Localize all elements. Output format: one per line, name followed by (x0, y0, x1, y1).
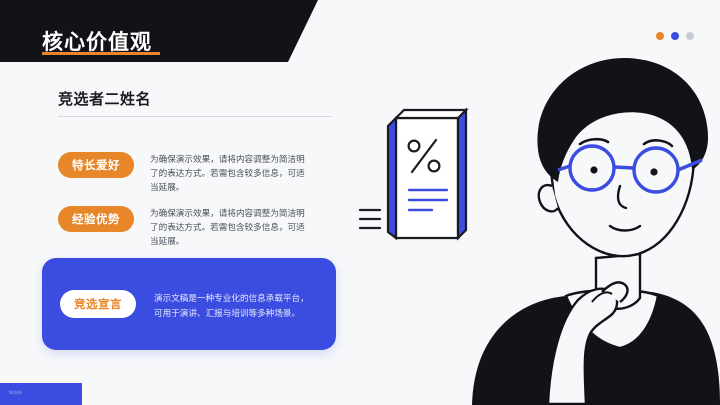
list-item-text: 为确保演示效果，请将内容调整为简洁明了的表达方式。若需包含较多信息，可适当延展。 (150, 152, 306, 195)
heading-divider (58, 116, 332, 117)
list-item-text: 为确保演示效果，请将内容调整为简洁明了的表达方式。若需包含较多信息，可适当延展。 (150, 206, 306, 249)
title-underline (42, 52, 160, 55)
document-graphic (388, 110, 466, 238)
chevrons-right-icon: »»» (8, 388, 22, 398)
dot-blue-icon (671, 32, 679, 40)
illustration (352, 0, 720, 405)
highlight-card-text: 演示文稿是一种专业化的信息承载平台，可用于演讲、汇报与培训等多种场景。 (154, 291, 314, 320)
tag-badge: 经验优势 (58, 206, 134, 232)
list-item: 经验优势 为确保演示效果，请将内容调整为简洁明了的表达方式。若需包含较多信息，可… (58, 206, 306, 249)
dot-gray-icon (686, 32, 694, 40)
bottom-accent-bar: »»» (0, 383, 82, 405)
person-graphic (472, 58, 720, 405)
slide-canvas: 核心价值观 竞选者二姓名 特长爱好 为确保演示效果，请将内容调整为简洁明了的表达… (0, 0, 720, 405)
tag-badge: 特长爱好 (58, 152, 134, 178)
candidate-name-heading: 竞选者二姓名 (58, 88, 151, 109)
highlight-card-badge: 竞选宣言 (60, 290, 136, 318)
list-lines-icon (360, 210, 380, 228)
dot-orange-icon (656, 32, 664, 40)
decorative-dots (656, 32, 694, 40)
highlight-card: 竞选宣言 演示文稿是一种专业化的信息承载平台，可用于演讲、汇报与培训等多种场景。 (42, 258, 336, 350)
list-item: 特长爱好 为确保演示效果，请将内容调整为简洁明了的表达方式。若需包含较多信息，可… (58, 152, 306, 195)
